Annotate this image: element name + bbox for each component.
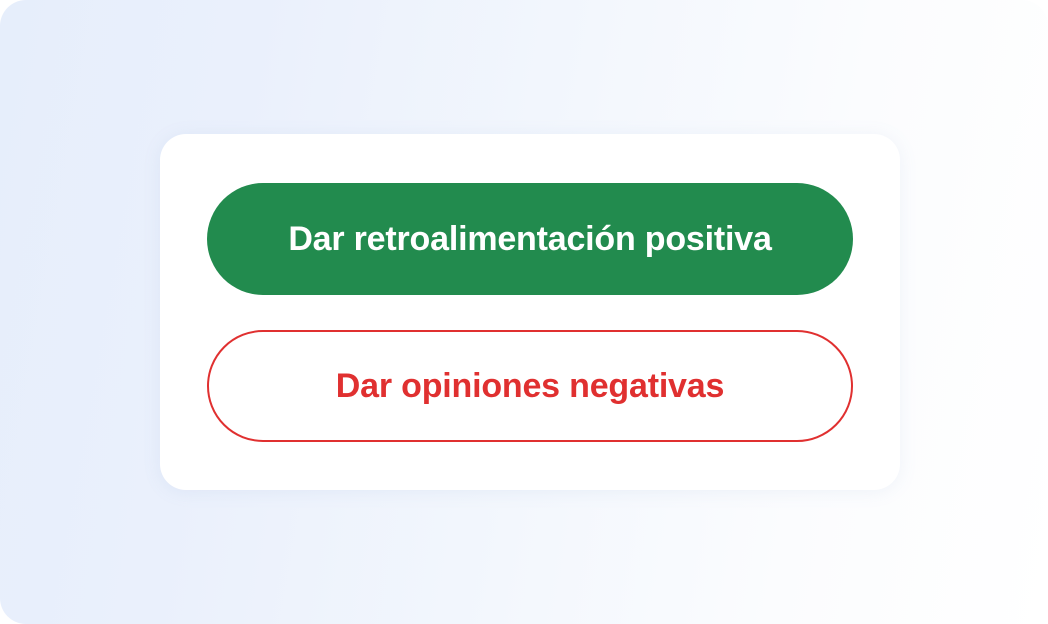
negative-feedback-button[interactable]: Dar opiniones negativas bbox=[207, 330, 853, 442]
screen-root: Dar retroalimentación positiva Dar opini… bbox=[0, 0, 1048, 624]
feedback-button-group: Dar retroalimentación positiva Dar opini… bbox=[207, 183, 853, 442]
feedback-card: Dar retroalimentación positiva Dar opini… bbox=[160, 134, 900, 490]
positive-feedback-button[interactable]: Dar retroalimentación positiva bbox=[207, 183, 853, 295]
